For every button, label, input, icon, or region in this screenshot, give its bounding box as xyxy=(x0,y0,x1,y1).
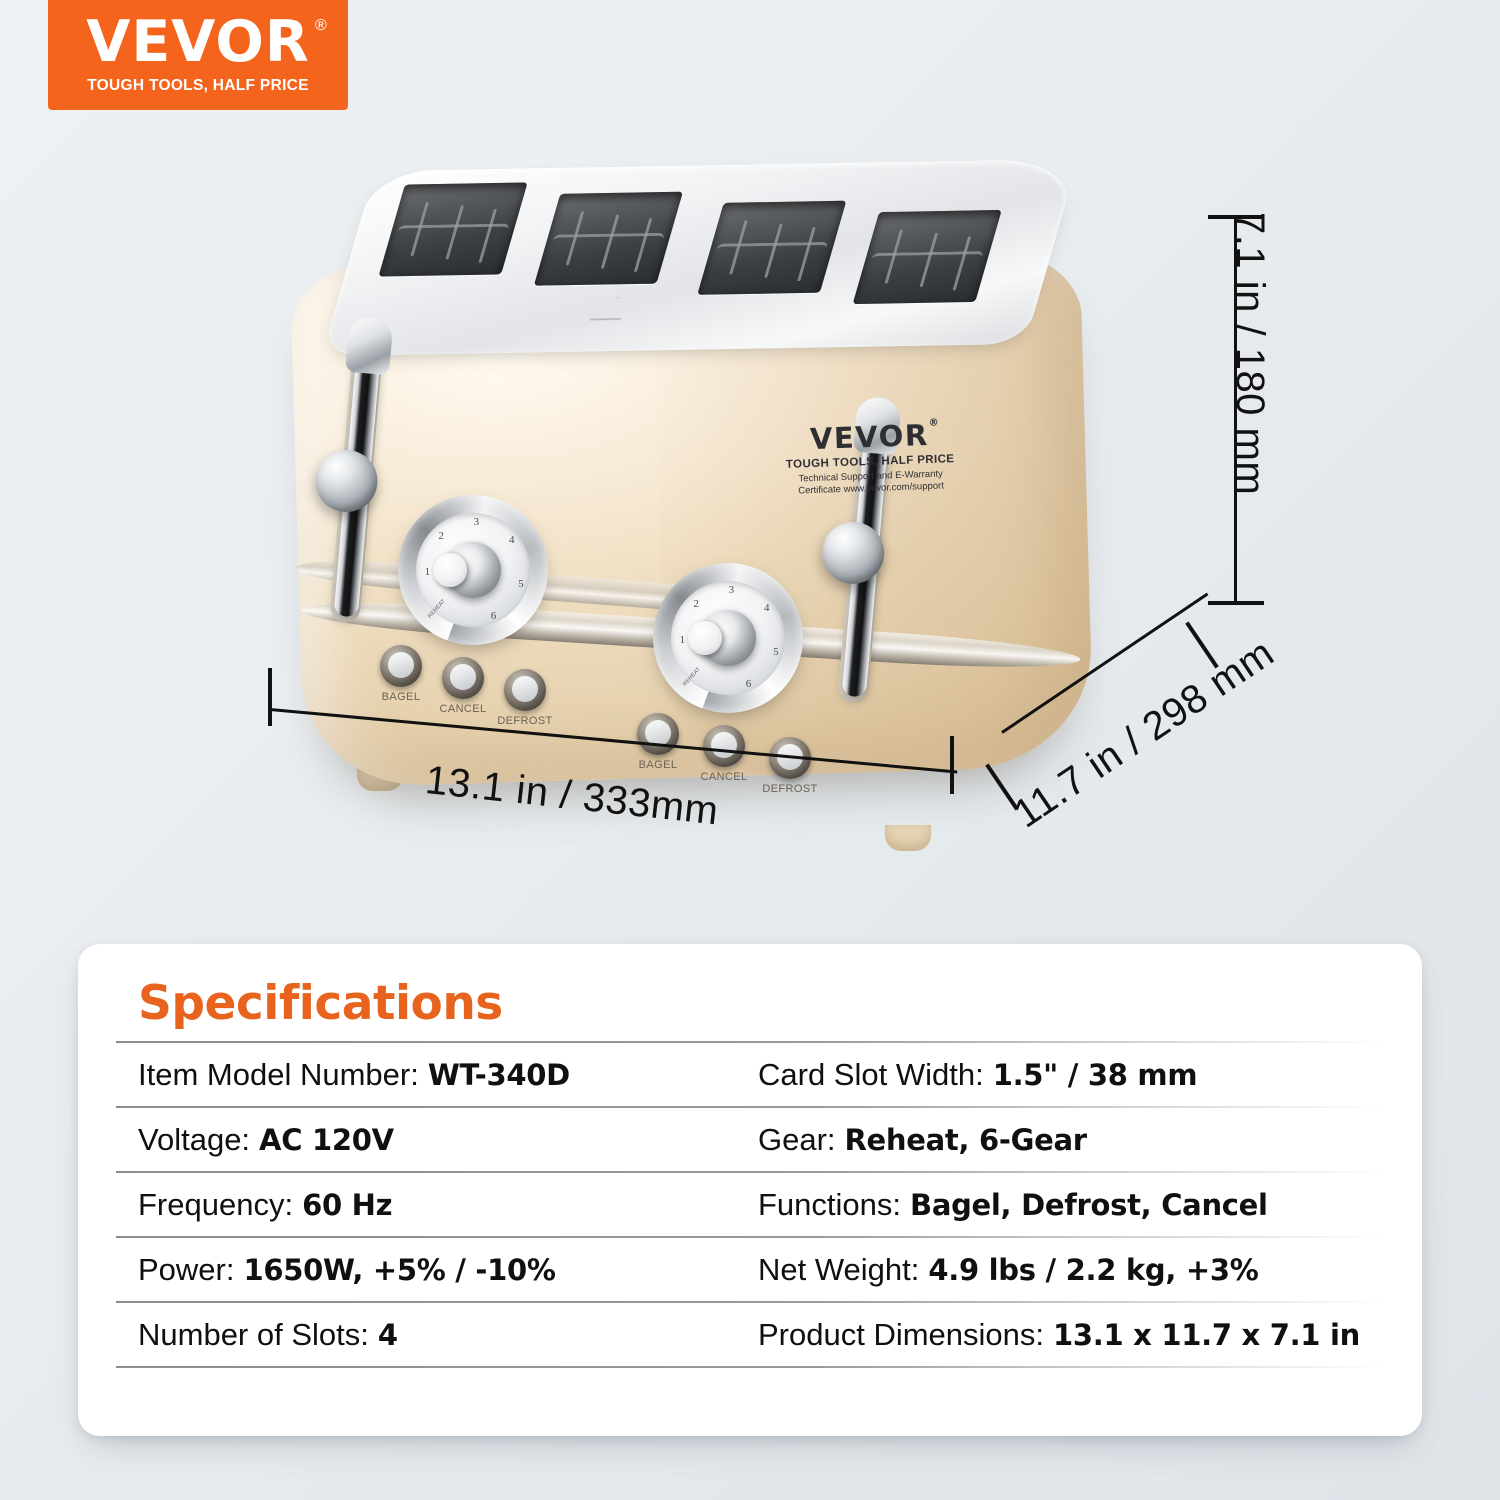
spec-value: 1650W, +5% / -10% xyxy=(243,1253,555,1287)
bagel-button-label: BAGEL xyxy=(639,759,678,771)
spec-key: Number of Slots: xyxy=(138,1317,369,1353)
bagel-button-right[interactable]: BAGEL xyxy=(637,713,679,755)
spec-cell-product-dimensions: Product Dimensions: 13.1 x 11.7 x 7.1 in xyxy=(758,1317,1360,1353)
dial-number-4: 4 xyxy=(764,602,770,614)
spec-cell-functions: Functions: Bagel, Defrost, Cancel xyxy=(758,1187,1268,1223)
body-decal: VEVOR® TOUGH TOOLS, HALF PRICE Technical… xyxy=(754,416,986,499)
spec-value: 4 xyxy=(378,1318,398,1352)
spec-value: 13.1 x 11.7 x 7.1 in xyxy=(1053,1318,1360,1352)
spec-key: Net Weight: xyxy=(758,1252,919,1288)
spec-key: Gear: xyxy=(758,1122,836,1158)
cancel-button-right[interactable]: CANCEL xyxy=(703,725,745,767)
browning-dial-right[interactable]: 1 2 3 4 5 6 REHEAT xyxy=(653,563,803,713)
spec-value: Bagel, Defrost, Cancel xyxy=(910,1188,1268,1222)
spec-key: Product Dimensions: xyxy=(758,1317,1044,1353)
brand-name: VEVOR xyxy=(86,9,310,75)
spec-value: WT-340D xyxy=(428,1058,570,1092)
spec-cell-voltage: Voltage: AC 120V xyxy=(138,1122,758,1158)
table-row: Number of Slots: 4 Product Dimensions: 1… xyxy=(116,1303,1384,1366)
dial-number-5: 5 xyxy=(518,578,524,590)
table-row: Voltage: AC 120V Gear: Reheat, 6-Gear xyxy=(116,1108,1384,1171)
cancel-button-label: CANCEL xyxy=(700,771,747,783)
button-cap xyxy=(450,664,476,690)
defrost-button-label: DEFROST xyxy=(762,783,817,795)
dial-pointer xyxy=(688,621,722,655)
bagel-button-left[interactable]: BAGEL xyxy=(380,645,422,687)
warning-triangle-icon xyxy=(586,292,636,320)
divider xyxy=(116,1366,1384,1368)
spec-value: Reheat, 6-Gear xyxy=(845,1123,1087,1157)
dial-number-3: 3 xyxy=(729,584,735,596)
spec-cell-number-of-slots: Number of Slots: 4 xyxy=(138,1317,758,1353)
dial-number-4: 4 xyxy=(509,534,515,546)
spec-value: 1.5" / 38 mm xyxy=(993,1058,1198,1092)
dial-number-3: 3 xyxy=(474,516,480,528)
spec-key: Card Slot Width: xyxy=(758,1057,984,1093)
toaster-foot-right xyxy=(885,825,931,851)
product-photo: VEVOR® TOUGH TOOLS, HALF PRICE Technical… xyxy=(0,120,1500,920)
table-row: Frequency: 60 Hz Functions: Bagel, Defro… xyxy=(116,1173,1384,1236)
spec-key: Frequency: xyxy=(138,1187,293,1223)
dial-number-6: 6 xyxy=(491,610,497,622)
spec-cell-power: Power: 1650W, +5% / -10% xyxy=(138,1252,758,1288)
height-dim-tick-bottom xyxy=(1208,601,1264,605)
browning-dial-left[interactable]: 1 2 3 4 5 6 REHEAT xyxy=(398,495,548,645)
spec-value: AC 120V xyxy=(259,1123,394,1157)
spec-key: Item Model Number: xyxy=(138,1057,419,1093)
spec-cell-net-weight: Net Weight: 4.9 lbs / 2.2 kg, +3% xyxy=(758,1252,1258,1288)
toaster-product-image: VEVOR® TOUGH TOOLS, HALF PRICE Technical… xyxy=(275,165,1105,805)
cancel-button-left[interactable]: CANCEL xyxy=(442,657,484,699)
toaster-top-plate xyxy=(322,159,1079,356)
table-row: Power: 1650W, +5% / -10% Net Weight: 4.9… xyxy=(116,1238,1384,1301)
bread-slot-1 xyxy=(378,182,527,276)
spec-cell-gear: Gear: Reheat, 6-Gear xyxy=(758,1122,1087,1158)
defrost-button-left[interactable]: DEFROST xyxy=(504,669,546,711)
dial-number-1: 1 xyxy=(680,634,686,646)
bagel-button-label: BAGEL xyxy=(382,691,421,703)
spec-value: 60 Hz xyxy=(302,1188,392,1222)
dial-number-2: 2 xyxy=(438,530,444,542)
spec-cell-card-slot-width: Card Slot Width: 1.5" / 38 mm xyxy=(758,1057,1197,1093)
height-dimension-label: 7.1 in / 180 mm xyxy=(1227,212,1272,495)
specifications-title: Specifications xyxy=(116,944,1384,1041)
spec-key: Voltage: xyxy=(138,1122,250,1158)
spec-key: Power: xyxy=(138,1252,234,1288)
button-cap xyxy=(711,732,737,758)
button-cap xyxy=(512,676,538,702)
brand-wordmark: VEVOR ® xyxy=(86,15,310,69)
width-dim-tick-right xyxy=(950,736,954,794)
spec-key: Functions: xyxy=(758,1187,901,1223)
specifications-card: Specifications Item Model Number: WT-340… xyxy=(78,944,1422,1436)
brand-tagline: TOUGH TOOLS, HALF PRICE xyxy=(87,77,309,95)
dial-number-1: 1 xyxy=(425,566,431,578)
dial-number-6: 6 xyxy=(746,678,752,690)
decal-brand: VEVOR® xyxy=(809,418,929,456)
decal-registered-icon: ® xyxy=(928,418,940,429)
lever-cap xyxy=(345,316,394,376)
spec-cell-frequency: Frequency: 60 Hz xyxy=(138,1187,758,1223)
registered-trademark-icon: ® xyxy=(315,17,327,35)
vevor-logo-badge: VEVOR ® TOUGH TOOLS, HALF PRICE xyxy=(48,0,348,110)
width-dim-tick-left xyxy=(268,668,272,726)
table-row: Item Model Number: WT-340D Card Slot Wid… xyxy=(116,1043,1384,1106)
spec-value: 4.9 lbs / 2.2 kg, +3% xyxy=(928,1253,1258,1287)
button-cap xyxy=(388,652,414,678)
dial-number-5: 5 xyxy=(773,646,779,658)
spec-cell-item-model-number: Item Model Number: WT-340D xyxy=(138,1057,758,1093)
dial-pointer xyxy=(433,553,467,587)
dial-number-2: 2 xyxy=(693,598,699,610)
bread-slot-3 xyxy=(697,201,846,295)
bread-slot-2 xyxy=(534,192,683,286)
cancel-button-label: CANCEL xyxy=(439,703,486,715)
defrost-button-label: DEFROST xyxy=(497,715,552,727)
bread-slot-4 xyxy=(853,210,1002,304)
